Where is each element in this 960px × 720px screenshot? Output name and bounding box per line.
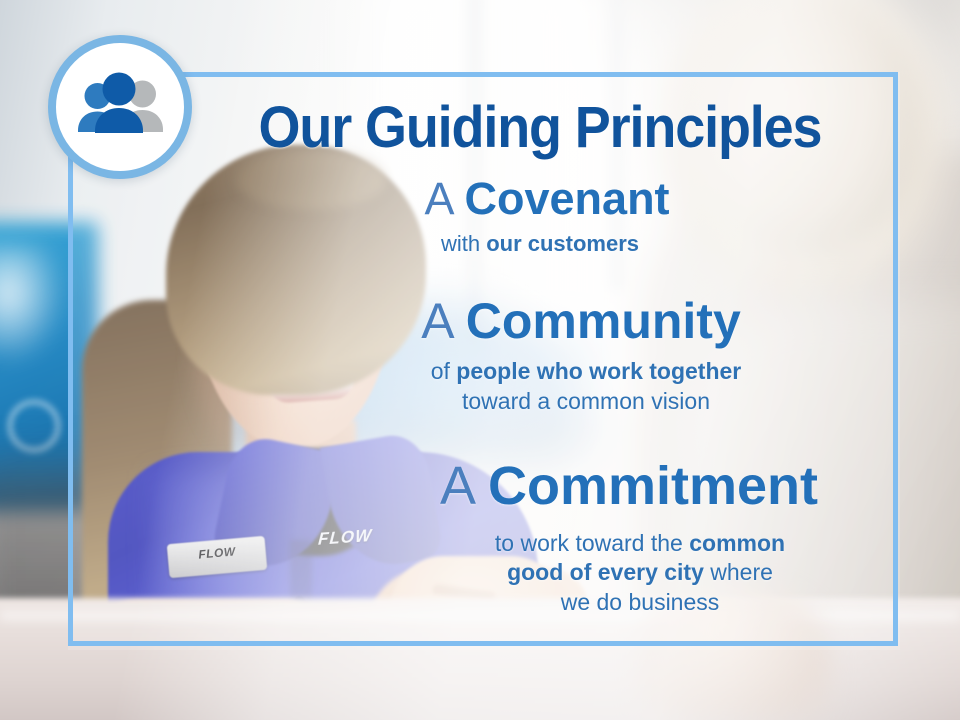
subtext-emphasis: common xyxy=(689,530,785,556)
principle-subtext: of people who work togethertoward a comm… xyxy=(190,357,890,416)
dealership-logo-mark xyxy=(8,400,60,452)
principle-heading: A Community xyxy=(190,295,890,348)
people-group-icon-badge xyxy=(48,35,192,179)
subtext-line: to work toward the common xyxy=(390,529,890,558)
principle-article: A xyxy=(424,173,452,224)
subtext-run: to work toward the xyxy=(495,530,689,556)
subtext-emphasis: good of every city xyxy=(507,559,704,585)
subtext-line: we do business xyxy=(390,588,890,617)
principle-article: A xyxy=(421,293,452,349)
principle-subtext: with our customers xyxy=(190,230,890,258)
subtext-emphasis: people who work together xyxy=(456,358,741,384)
people-group-icon xyxy=(66,70,174,144)
principle-article: A xyxy=(440,456,473,516)
page-title: Our Guiding Principles xyxy=(215,98,866,157)
content-block: Our Guiding Principles A Covenant with o… xyxy=(190,76,890,617)
principle-keyword: Commitment xyxy=(488,456,818,516)
principle-heading: A Commitment xyxy=(190,458,890,515)
subtext-run: we do business xyxy=(561,589,720,615)
subtext-run: of xyxy=(431,358,457,384)
principle-commitment: A Commitment to work toward the commongo… xyxy=(190,458,890,617)
subtext-run: where xyxy=(704,559,773,585)
subtext-line: with our customers xyxy=(190,230,890,258)
subtext-line: toward a common vision xyxy=(282,387,890,416)
principle-covenant: A Covenant with our customers xyxy=(190,175,890,258)
principle-heading: A Covenant xyxy=(190,175,890,222)
subtext-line: good of every city where xyxy=(390,558,890,587)
display-panel-glow xyxy=(0,245,66,365)
principle-keyword: Covenant xyxy=(465,173,670,224)
subtext-line: of people who work together xyxy=(282,357,890,386)
subtext-run: with xyxy=(441,231,486,256)
principle-community: A Community of people who work togethert… xyxy=(190,295,890,416)
principle-keyword: Community xyxy=(466,293,741,349)
guiding-principles-graphic: FLOW FLOW xyxy=(0,0,960,720)
principle-subtext: to work toward the commongood of every c… xyxy=(190,529,890,617)
subtext-emphasis: our customers xyxy=(486,231,639,256)
subtext-run: toward a common vision xyxy=(462,388,710,414)
